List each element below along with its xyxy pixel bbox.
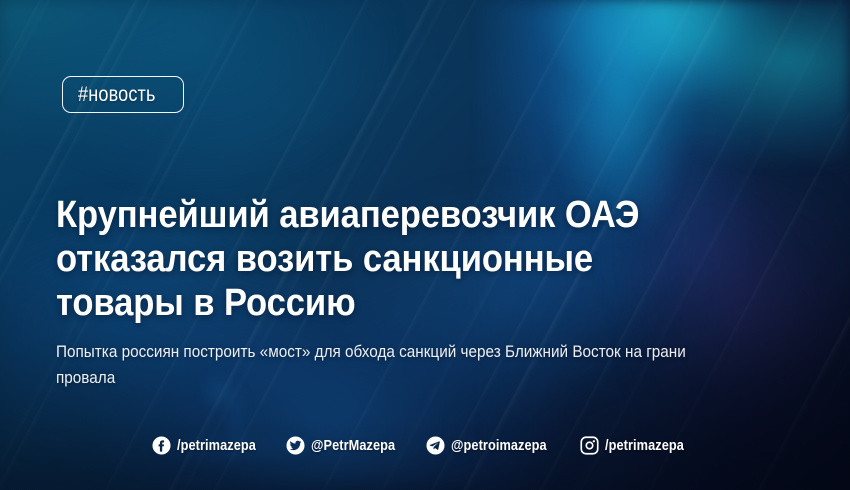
news-tag-label: #новость <box>78 84 156 105</box>
social-handle-facebook: /petrimazepa <box>177 438 256 453</box>
twitter-icon <box>286 436 305 455</box>
news-card: #новость Крупнейший авиаперевозчик ОАЭ о… <box>0 0 850 490</box>
page-title: Крупнейший авиаперевозчик ОАЭ отказался … <box>56 193 693 325</box>
news-tag-badge[interactable]: #новость <box>62 76 184 113</box>
social-link-telegram[interactable]: @petroimazepa <box>426 436 564 455</box>
social-handle-instagram: /petrimazepa <box>605 438 684 453</box>
telegram-icon <box>426 436 445 455</box>
social-handle-telegram: @petroimazepa <box>451 438 547 453</box>
social-links-bar: /petrimazepa @PetrMazepa @petroimazepa <box>0 436 850 455</box>
social-link-facebook[interactable]: /petrimazepa <box>152 436 270 455</box>
social-link-instagram[interactable]: /petrimazepa <box>580 436 698 455</box>
page-subtitle: Попытка россиян построить «мост» для обх… <box>56 339 713 391</box>
social-handle-twitter: @PetrMazepa <box>311 438 395 453</box>
facebook-icon <box>152 436 171 455</box>
social-link-twitter[interactable]: @PetrMazepa <box>286 436 410 455</box>
card-content: #новость Крупнейший авиаперевозчик ОАЭ о… <box>0 0 850 490</box>
instagram-icon <box>580 436 599 455</box>
